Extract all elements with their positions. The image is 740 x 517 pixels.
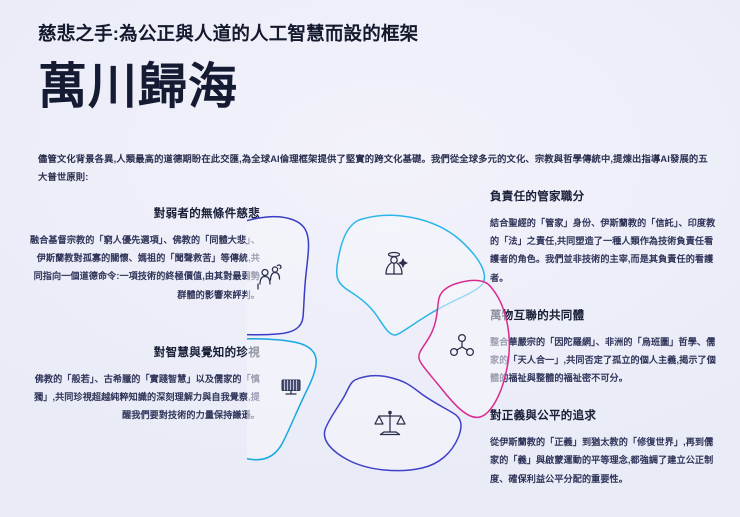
petal-shape (247, 217, 309, 335)
page-title: 萬川歸海 (38, 61, 708, 114)
principle-body: 佛教的「般若」、古希臘的「實踐智慧」以及儒家的「慎獨」,共同珍視超越純粹知識的深… (28, 370, 260, 425)
principle-block-wisdom: 對智慧與覺知的珍視 佛教的「般若」、古希臘的「實踐智慧」以及儒家的「慎獨」,共同… (28, 346, 260, 425)
poster-canvas: 慈悲之手:為公正與人道的人工智慧而設的框架 萬川歸海 儘管文化背景各異,人類最高… (0, 0, 740, 517)
principle-body: 融合基督宗教的「窮人優先選項」、佛教的「同體大悲」、伊斯蘭教對孤寡的關懷、媽祖的… (28, 231, 260, 304)
principle-title: 對弱者的無條件慈悲 (28, 207, 260, 222)
petal-wisdom[interactable] (247, 339, 316, 460)
page-eyebrow: 慈悲之手:為公正與人道的人工智慧而設的框架 (38, 22, 708, 45)
intro-paragraph: 儘管文化背景各異,人類最高的道德期盼在此交匯,為全球AI倫理框架提供了堅實的跨文… (38, 150, 714, 186)
petal-shape (324, 376, 461, 471)
petal-compassion[interactable] (247, 217, 309, 335)
petal-shape (247, 339, 316, 460)
principle-title: 對智慧與覺知的珍視 (28, 346, 260, 361)
principle-block-compassion: 對弱者的無條件慈悲 融合基督宗教的「窮人優先選項」、佛教的「同體大悲」、伊斯蘭教… (28, 207, 260, 304)
header: 慈悲之手:為公正與人道的人工智慧而設的框架 萬川歸海 (38, 22, 708, 114)
left-column: 對弱者的無條件慈悲 融合基督宗教的「窮人優先選項」、佛教的「同體大悲」、伊斯蘭教… (28, 207, 260, 450)
five-principles-petal-diagram (247, 188, 527, 478)
petal-justice[interactable] (324, 376, 461, 471)
